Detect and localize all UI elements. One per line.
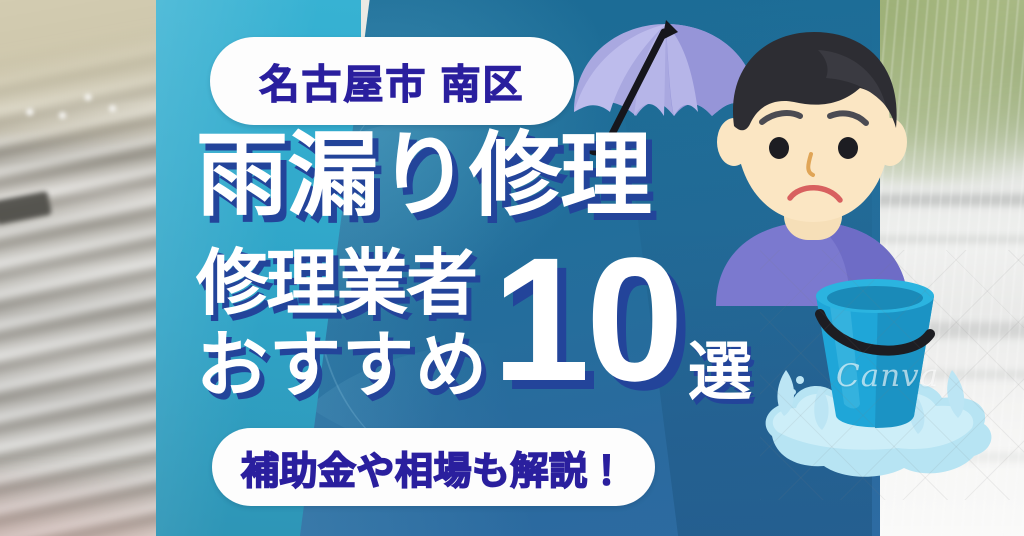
subtitle-line-1: 修理業者 (196, 248, 476, 320)
region-badge-label: 名古屋市 南区 (259, 52, 524, 110)
page-title: 雨漏り修理 (196, 130, 651, 222)
count-unit: 選 (688, 340, 752, 404)
banner-root: Canva 名古屋市 南区 雨漏り修理 修理業者 おすすめ 10 選 補助金や相… (0, 0, 1024, 536)
count-number: 10 (492, 232, 680, 408)
roof-bottom-tint (0, 472, 180, 536)
weathered-roof-photo (0, 0, 180, 536)
footer-badge-label: 補助金や相場も解説！ (241, 440, 626, 495)
leaking-bucket-icon (758, 258, 1024, 493)
subtitle-line-2: おすすめ (196, 330, 488, 402)
region-badge: 名古屋市 南区 (210, 37, 574, 125)
footer-badge: 補助金や相場も解説！ (212, 428, 655, 506)
